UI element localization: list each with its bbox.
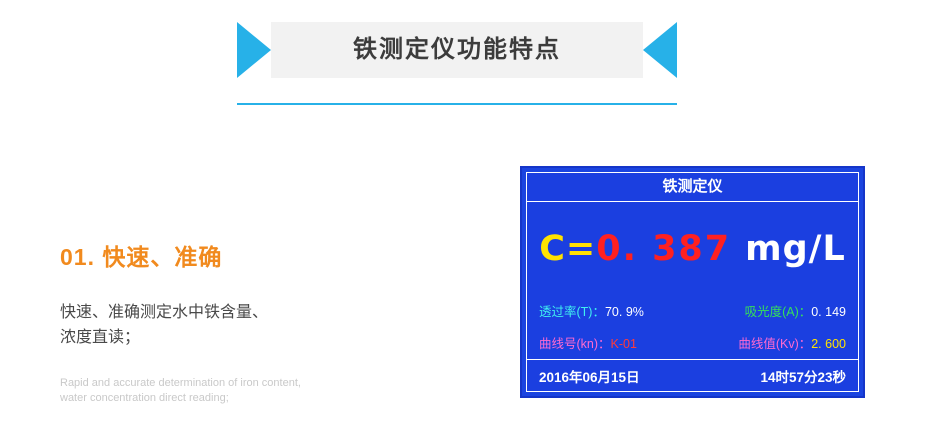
transmittance-readout: 透过率(T)： 70. 9%: [539, 301, 644, 320]
feature-description-en-line2: water concentration direct reading;: [60, 392, 229, 404]
banner-divider: [237, 103, 677, 105]
section-heading-number: 01.: [60, 244, 95, 270]
feature-description-cn-line2: 浓度直读；: [60, 329, 140, 346]
absorbance-readout: 吸光度(A)： 0. 149: [745, 301, 846, 320]
page-title: 铁测定仪功能特点: [271, 22, 643, 78]
device-screen: 铁测定仪 C=0. 387mg∕L 透过率(T)： 70. 9% 吸光度(A)：…: [526, 172, 859, 392]
transmittance-label: 透过率(T)：: [539, 301, 605, 320]
curve-number-label: 曲线号(kn)：: [539, 333, 611, 352]
feature-description-en: Rapid and accurate determination of iron…: [60, 376, 460, 406]
device-readout-rows: 透过率(T)： 70. 9% 吸光度(A)： 0. 149 曲线号(kn)： K…: [527, 301, 858, 365]
reading-unit: mg∕L: [745, 229, 846, 269]
device-main-reading: C=0. 387mg∕L: [527, 218, 858, 280]
device-display-panel: 铁测定仪 C=0. 387mg∕L 透过率(T)： 70. 9% 吸光度(A)：…: [520, 166, 865, 398]
section-heading-text: 快速、准确: [102, 244, 222, 270]
curve-value-readout: 曲线值(Kv)： 2. 600: [738, 333, 846, 352]
section-heading: 01. 快速、准确: [60, 238, 460, 272]
device-footer: 2016年06月15日 14时57分23秒: [527, 359, 858, 391]
device-screen-title: 铁测定仪: [527, 173, 858, 202]
banner-right-arrow-icon: [643, 22, 677, 78]
device-time: 14时57分23秒: [760, 366, 846, 386]
page-banner: 铁测定仪功能特点: [237, 22, 677, 78]
curve-number-value: K-01: [611, 337, 637, 351]
device-readout-row: 透过率(T)： 70. 9% 吸光度(A)： 0. 149: [539, 301, 846, 320]
feature-description-en-line1: Rapid and accurate determination of iron…: [60, 377, 301, 389]
transmittance-value: 70. 9%: [605, 305, 644, 319]
feature-text-block: 01. 快速、准确 快速、准确测定水中铁含量、 浓度直读； Rapid and …: [60, 238, 460, 406]
banner-left-arrow-icon: [237, 22, 271, 78]
feature-description-cn: 快速、准确测定水中铁含量、 浓度直读；: [60, 300, 460, 350]
device-date: 2016年06月15日: [539, 366, 640, 386]
feature-description-cn-line1: 快速、准确测定水中铁含量、: [60, 304, 268, 321]
reading-prefix: C=: [539, 229, 596, 269]
curve-value-label: 曲线值(Kv)：: [738, 333, 811, 352]
reading-value: 0. 387: [596, 229, 731, 269]
device-readout-row: 曲线号(kn)： K-01 曲线值(Kv)： 2. 600: [539, 333, 846, 352]
curve-value-value: 2. 600: [811, 337, 846, 351]
absorbance-value: 0. 149: [811, 305, 846, 319]
curve-number-readout: 曲线号(kn)： K-01: [539, 333, 637, 352]
absorbance-label: 吸光度(A)：: [745, 301, 812, 320]
